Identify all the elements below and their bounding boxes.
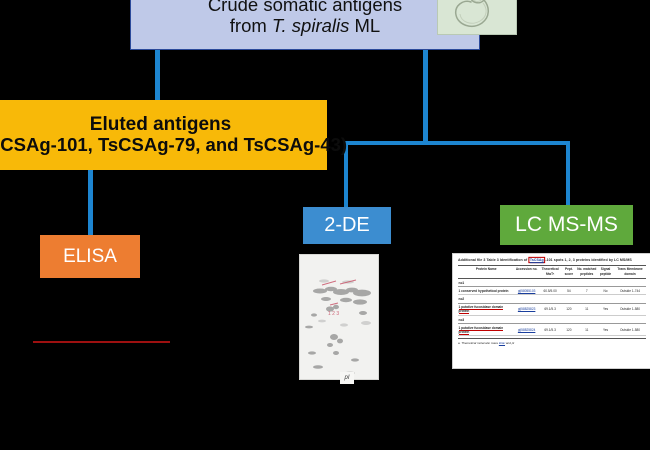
source-line-1: Crude somatic antigens <box>208 0 402 16</box>
source-species-name: T. spiralis <box>272 15 349 36</box>
table-cell-accession: gi|58825823 <box>514 303 538 315</box>
table-caption-mid: -101 spots 1, 2, 3 proteins identified b… <box>545 258 632 262</box>
table-cell-protein-name: 1 conserved hypothetical protein <box>458 287 514 295</box>
source-line-2-prefix: from <box>230 15 272 36</box>
gel-spot-annotation: 1 2 3 <box>328 311 339 317</box>
connector-branch-to-lcms <box>566 141 570 207</box>
table-row: 1 putative fucosidase domain protein gi|… <box>458 303 646 315</box>
gel-spots-illustration: 1 2 3 <box>300 255 378 379</box>
protein-identification-table: Protein Name Accession no. Theoretical M… <box>458 265 646 336</box>
table-group-label: no1 <box>458 278 646 287</box>
table-cell-accession: gi|58825824 <box>514 324 538 336</box>
connector-source-to-branch-vertical <box>423 49 428 145</box>
table-cell-mw: 69.1/5.3 <box>539 324 562 336</box>
table-header-cell: Trans Membrane domain <box>614 266 646 279</box>
table-header-cell: Pept. score <box>561 266 576 279</box>
table-cell-signal: Yes <box>597 303 614 315</box>
red-underline-rule <box>33 341 170 343</box>
two-de-box: 2-DE <box>303 207 391 244</box>
table-cell-protein-name: 1 putative fucosidase domain protein <box>458 303 514 315</box>
lc-ms-ms-results-table-image: Additional file 3 Table 3 Identification… <box>452 253 650 369</box>
table-header-cell: No. matched peptides <box>576 266 597 279</box>
lc-ms-ms-label: LC MS-MS <box>515 213 618 237</box>
connector-source-to-eluted-vertical <box>155 49 160 102</box>
elisa-box: ELISA <box>40 235 140 278</box>
table-caption: Additional file 3 Table 3 Identification… <box>458 258 650 262</box>
eluted-line-1: Eluted antigens <box>90 114 231 135</box>
connector-eluted-to-elisa <box>88 170 93 236</box>
eluted-antigens-box: Eluted antigens (TsCSAg-101, TsCSAg-79, … <box>0 100 327 170</box>
table-header-cell: Protein Name <box>458 266 514 279</box>
table-header-cell: Accession no. <box>514 266 538 279</box>
table-cell-score: 54 <box>561 287 576 295</box>
table-cell-mw: 69.1/5.3 <box>539 303 562 315</box>
table-header-row: Protein Name Accession no. Theoretical M… <box>458 266 646 279</box>
table-cell-accession: gi|58055103 <box>514 287 538 295</box>
table-cell-peptides: 11 <box>576 324 597 336</box>
table-cell-signal: Yes <box>597 324 614 336</box>
larva-micrograph-image <box>437 0 517 35</box>
table-cell-tm-domain: Outside 1-580 <box>614 324 646 336</box>
gel-pi-axis-label: pI <box>340 372 354 384</box>
table-footnote-suffix: and pI <box>505 341 514 345</box>
table-footnote-prefix: a. Theoretical molecular mass <box>458 341 499 345</box>
table-cell-mw: 60.5/5.00 <box>539 287 562 295</box>
table-group-row: no2 <box>458 295 646 304</box>
table-cell-score: 120 <box>561 303 576 315</box>
table-cell-signal: No <box>597 287 614 295</box>
elisa-label: ELISA <box>63 246 117 267</box>
table-caption-italic: Identification of <box>500 258 528 262</box>
table-cell-tm-domain: Outside 1-744 <box>614 287 646 295</box>
connector-branch-horizontal <box>344 141 570 145</box>
two-de-label: 2-DE <box>324 214 370 236</box>
table-cell-peptides: 7 <box>576 287 597 295</box>
table-group-label: no2 <box>458 295 646 304</box>
table-cell-score: 120 <box>561 324 576 336</box>
source-line-2-suffix: ML <box>349 15 380 36</box>
table-header-cell: Theoretical MwTᵃ <box>539 266 562 279</box>
table-group-label: no3 <box>458 315 646 324</box>
two-de-gel-image: 1 2 3 <box>299 254 379 380</box>
table-footnote: a. Theoretical molecular mass kDa/ and p… <box>458 338 646 345</box>
source-antigens-box: Crude somatic antigens from T. spiralis … <box>130 0 480 50</box>
eluted-line-2: (TsCSAg-101, TsCSAg-79, and TsCSAg-43) <box>0 135 347 156</box>
larva-coil-illustration <box>438 0 516 34</box>
table-group-row: no3 <box>458 315 646 324</box>
table-row: 1 putative fucosidase domain protein gi|… <box>458 324 646 336</box>
table-header-cell: Signal peptide <box>597 266 614 279</box>
table-group-row: no1 <box>458 278 646 287</box>
source-line-2: from T. spiralis ML <box>230 16 380 37</box>
lc-ms-ms-box: LC MS-MS <box>500 205 633 245</box>
table-caption-link: TsCSAg <box>528 257 545 263</box>
flowchart-diagram: Crude somatic antigens from T. spiralis … <box>0 0 650 450</box>
table-cell-peptides: 11 <box>576 303 597 315</box>
table-caption-prefix: Additional file 3 Table 3 <box>458 258 500 262</box>
table-cell-tm-domain: Outside 1-580 <box>614 303 646 315</box>
table-cell-protein-name: 1 putative fucosidase domain protein <box>458 324 514 336</box>
table-row: 1 conserved hypothetical protein gi|5805… <box>458 287 646 295</box>
